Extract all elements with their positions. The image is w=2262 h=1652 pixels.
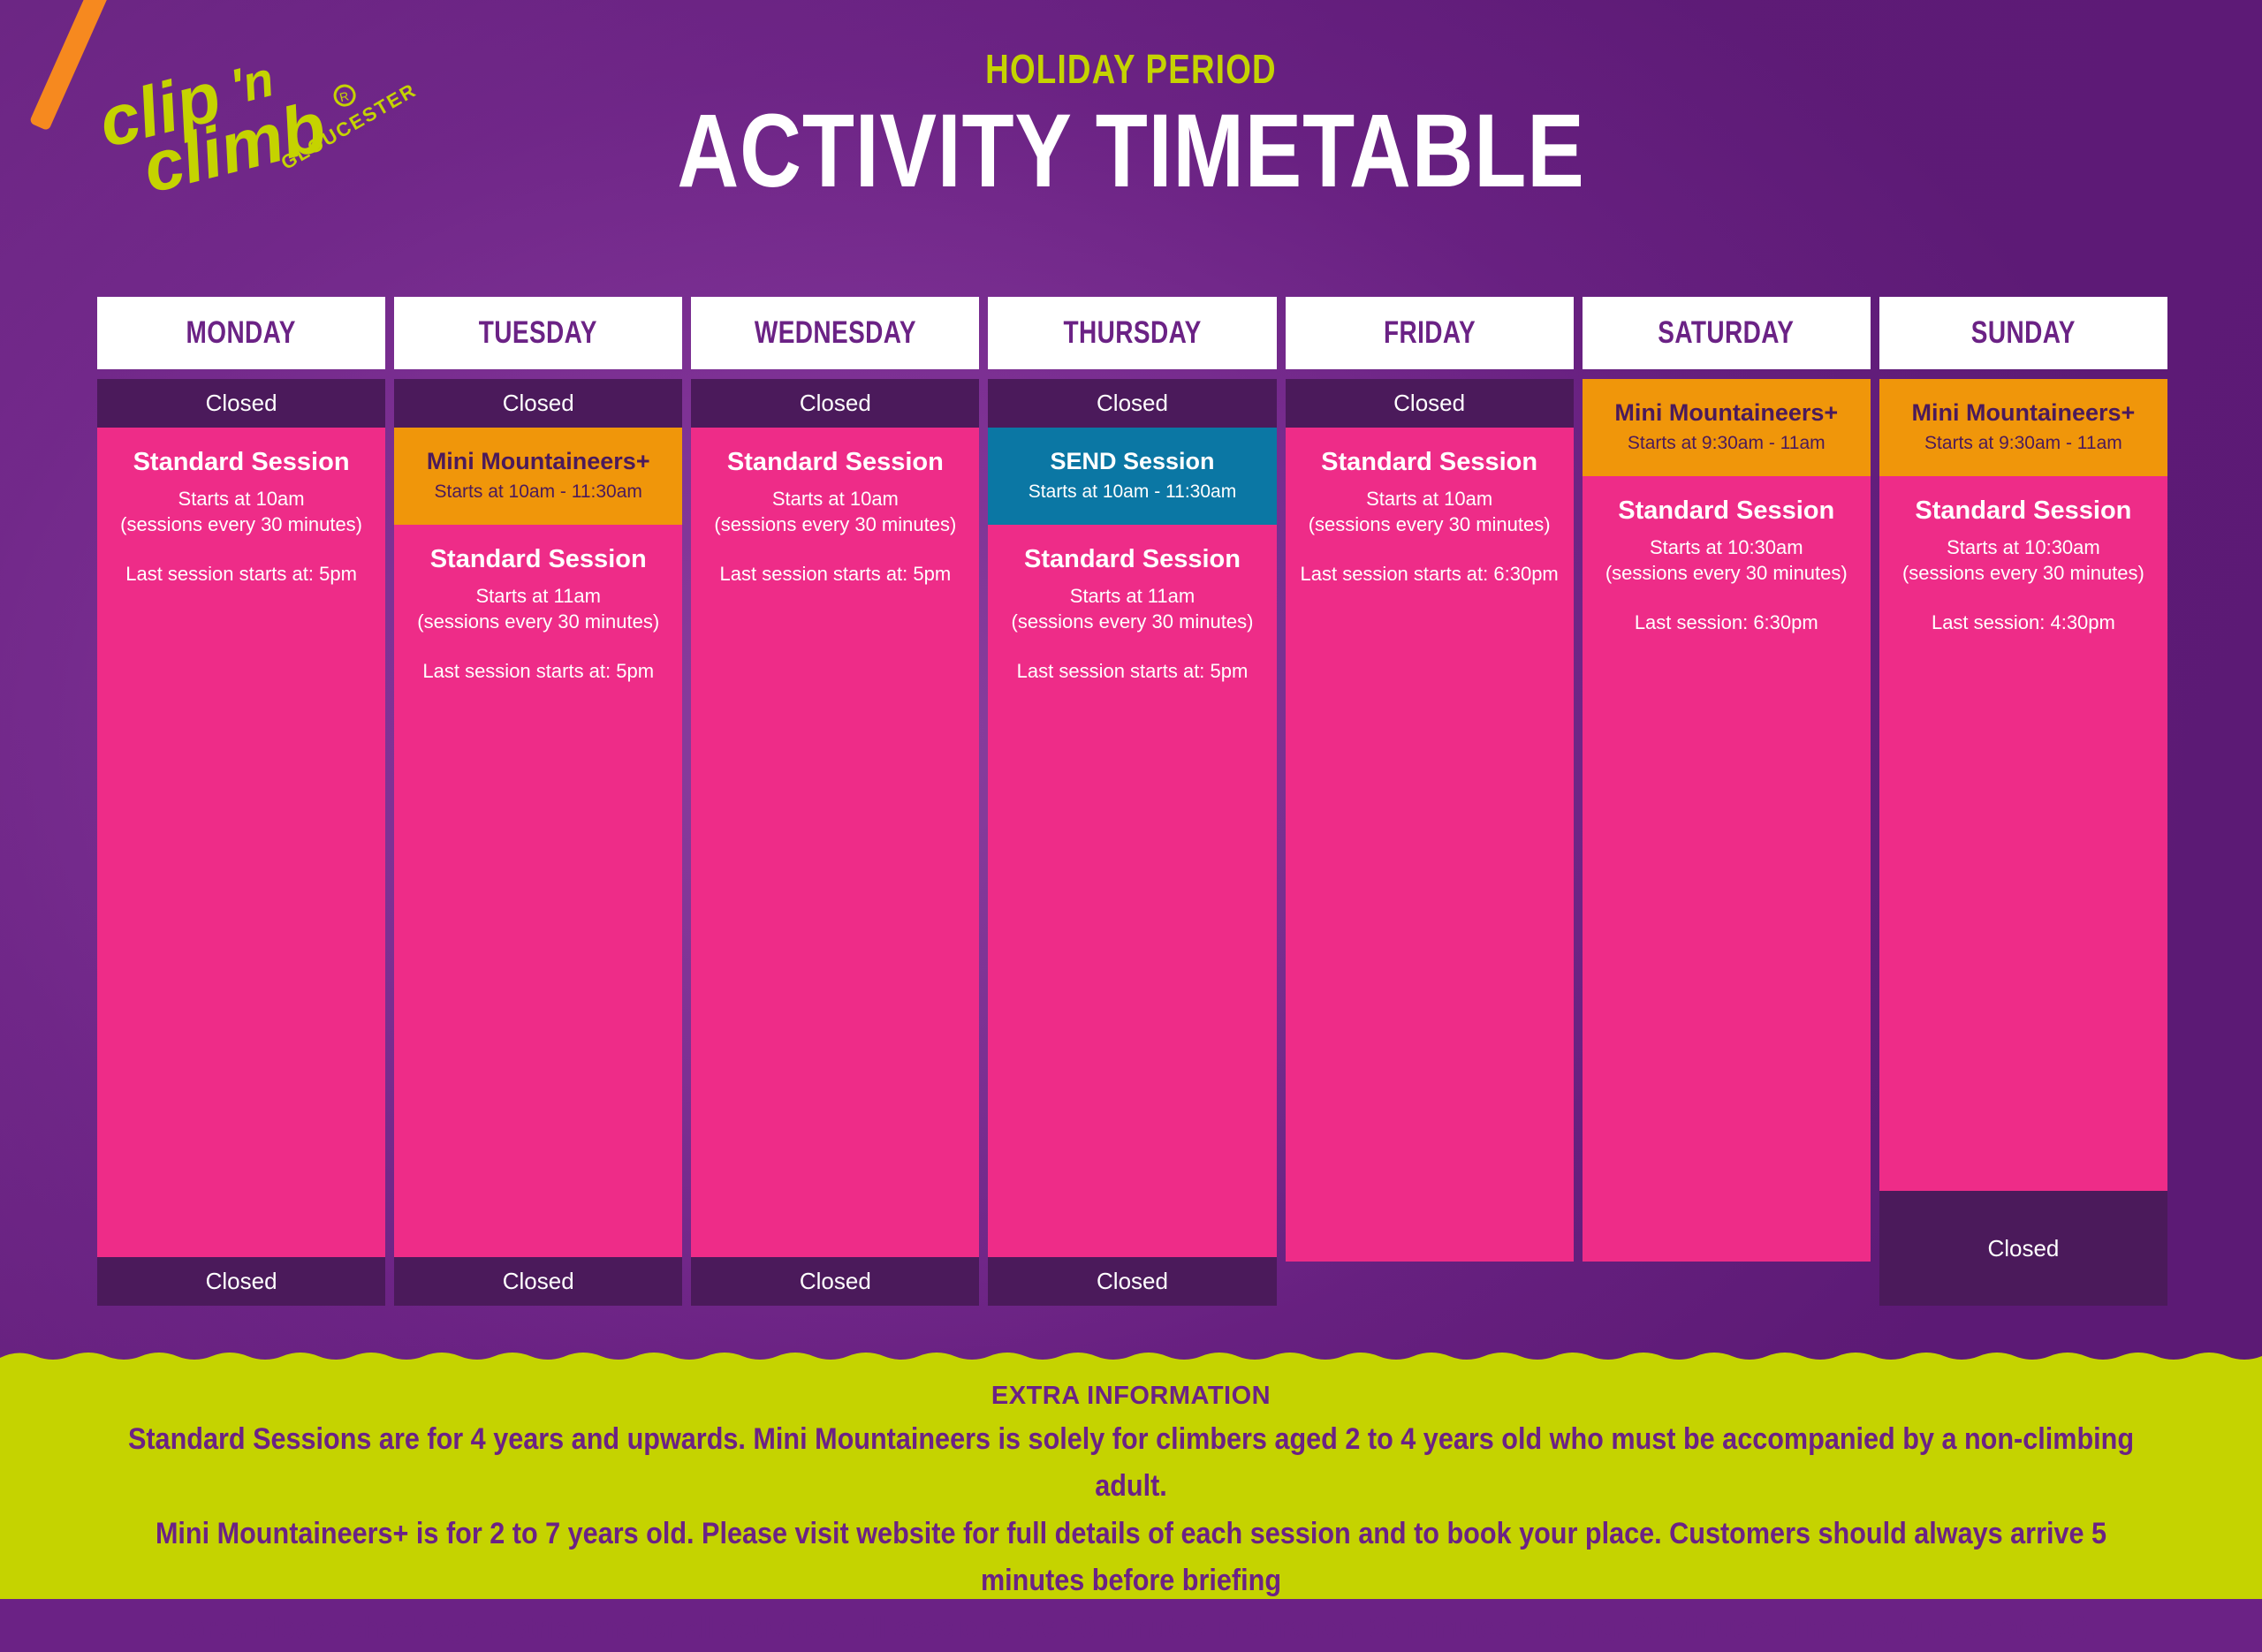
session-times: Starts at 9:30am - 11am <box>1590 431 1863 456</box>
session-content: Mini Mountaineers+Starts at 10am - 11:30… <box>394 428 682 525</box>
session-block: SEND SessionStarts at 10am - 11:30am <box>988 428 1276 525</box>
session-content: Mini Mountaineers+Starts at 9:30am - 11a… <box>1879 379 2167 476</box>
session-name: Standard Session <box>1590 496 1863 527</box>
session-block: Standard SessionStarts at 11am(sessions … <box>394 525 682 1257</box>
session-times: Starts at 9:30am - 11am <box>1886 431 2160 456</box>
session-block: Standard SessionStarts at 10:30am(sessio… <box>1879 476 2167 1191</box>
session-content: SEND SessionStarts at 10am - 11:30am <box>988 428 1276 525</box>
day-header-label: TUESDAY <box>479 315 597 351</box>
day-column: THURSDAYClosedSEND SessionStarts at 10am… <box>988 297 1276 1306</box>
session-times: Starts at 10am(sessions every 30 minutes… <box>104 486 378 538</box>
day-column: SUNDAYMini Mountaineers+Starts at 9:30am… <box>1879 297 2167 1306</box>
session-name: Standard Session <box>104 447 378 478</box>
session-name: Mini Mountaineers+ <box>1886 398 2160 427</box>
session-name: Standard Session <box>1886 496 2160 527</box>
timetable-grid: MONDAYClosedStandard SessionStarts at 10… <box>97 297 2167 1306</box>
session-last-start: Last session starts at: 6:30pm <box>1293 562 1567 587</box>
session-last-start: Last session: 4:30pm <box>1886 610 2160 636</box>
session-times: Starts at 10am - 11:30am <box>995 480 1269 504</box>
day-header-saturday: SATURDAY <box>1583 297 1871 369</box>
closed-block: Closed <box>1879 1191 2167 1306</box>
session-last-start: Last session starts at: 5pm <box>698 562 972 587</box>
session-block: Mini Mountaineers+Starts at 10am - 11:30… <box>394 428 682 525</box>
day-header-thursday: THURSDAY <box>988 297 1276 369</box>
closed-block: Closed <box>97 379 385 428</box>
session-block: Standard SessionStarts at 11am(sessions … <box>988 525 1276 1257</box>
session-times: Starts at 11am(sessions every 30 minutes… <box>401 583 675 635</box>
extra-info-line: Standard Sessions are for 4 years and up… <box>113 1416 2149 1511</box>
session-content: Standard SessionStarts at 10am(sessions … <box>97 428 385 607</box>
day-header-label: SUNDAY <box>1971 315 2076 351</box>
day-header-label: FRIDAY <box>1384 315 1476 351</box>
day-header-friday: FRIDAY <box>1286 297 1574 369</box>
closed-block: Closed <box>1286 379 1574 428</box>
session-block: Standard SessionStarts at 10am(sessions … <box>97 428 385 1257</box>
session-content: Standard SessionStarts at 10:30am(sessio… <box>1879 476 2167 655</box>
footer-panel: EXTRA INFORMATION Standard Sessions are … <box>0 1364 2262 1599</box>
session-times: Starts at 10:30am(sessions every 30 minu… <box>1886 534 2160 587</box>
closed-block: Closed <box>394 1257 682 1306</box>
closed-block: Closed <box>988 1257 1276 1306</box>
day-header-wednesday: WEDNESDAY <box>691 297 979 369</box>
day-header-label: MONDAY <box>186 315 296 351</box>
session-block: Mini Mountaineers+Starts at 9:30am - 11a… <box>1879 379 2167 476</box>
session-block: Standard SessionStarts at 10:30am(sessio… <box>1583 476 1871 1262</box>
day-header-tuesday: TUESDAY <box>394 297 682 369</box>
day-header-sunday: SUNDAY <box>1879 297 2167 369</box>
session-times: Starts at 11am(sessions every 30 minutes… <box>995 583 1269 635</box>
session-times: Starts at 10am(sessions every 30 minutes… <box>1293 486 1567 538</box>
extra-info-title: EXTRA INFORMATION <box>0 1382 2262 1411</box>
session-times: Starts at 10:30am(sessions every 30 minu… <box>1590 534 1863 587</box>
session-content: Standard SessionStarts at 11am(sessions … <box>988 525 1276 704</box>
header-eyebrow: HOLIDAY PERIOD <box>226 49 2036 89</box>
day-column: MONDAYClosedStandard SessionStarts at 10… <box>97 297 385 1306</box>
session-name: Mini Mountaineers+ <box>1590 398 1863 427</box>
page-header: HOLIDAY PERIOD ACTIVITY TIMETABLE <box>0 49 2262 204</box>
session-content: Standard SessionStarts at 10am(sessions … <box>1286 428 1574 607</box>
extra-info-line: starts. Please check age restrictions fo… <box>113 1605 2149 1652</box>
closed-block: Closed <box>394 379 682 428</box>
session-name: Standard Session <box>698 447 972 478</box>
closed-block: Closed <box>97 1257 385 1306</box>
session-name: Mini Mountaineers+ <box>401 447 675 475</box>
closed-block: Closed <box>988 379 1276 428</box>
extra-info-body: Standard Sessions are for 4 years and up… <box>0 1416 2262 1652</box>
session-last-start: Last session starts at: 5pm <box>995 659 1269 685</box>
session-block: Mini Mountaineers+Starts at 9:30am - 11a… <box>1583 379 1871 476</box>
day-header-label: THURSDAY <box>1063 315 1201 351</box>
closed-block: Closed <box>691 1257 979 1306</box>
session-times: Starts at 10am(sessions every 30 minutes… <box>698 486 972 538</box>
session-content: Mini Mountaineers+Starts at 9:30am - 11a… <box>1583 379 1871 476</box>
session-last-start: Last session starts at: 5pm <box>401 659 675 685</box>
day-column: TUESDAYClosedMini Mountaineers+Starts at… <box>394 297 682 1306</box>
session-name: SEND Session <box>995 447 1269 475</box>
session-last-start: Last session: 6:30pm <box>1590 610 1863 636</box>
day-column: FRIDAYClosedStandard SessionStarts at 10… <box>1286 297 1574 1262</box>
extra-info-line: Mini Mountaineers+ is for 2 to 7 years o… <box>113 1511 2149 1605</box>
day-header-label: SATURDAY <box>1659 315 1795 351</box>
day-header-label: WEDNESDAY <box>755 315 916 351</box>
session-content: Standard SessionStarts at 10:30am(sessio… <box>1583 476 1871 655</box>
closed-block: Closed <box>691 379 979 428</box>
session-block: Standard SessionStarts at 10am(sessions … <box>1286 428 1574 1262</box>
session-name: Standard Session <box>1293 447 1567 478</box>
session-content: Standard SessionStarts at 10am(sessions … <box>691 428 979 607</box>
session-last-start: Last session starts at: 5pm <box>104 562 378 587</box>
session-content: Standard SessionStarts at 11am(sessions … <box>394 525 682 704</box>
session-times: Starts at 10am - 11:30am <box>401 480 675 504</box>
day-column: SATURDAYMini Mountaineers+Starts at 9:30… <box>1583 297 1871 1262</box>
day-header-monday: MONDAY <box>97 297 385 369</box>
session-name: Standard Session <box>401 544 675 575</box>
day-column: WEDNESDAYClosedStandard SessionStarts at… <box>691 297 979 1306</box>
session-block: Standard SessionStarts at 10am(sessions … <box>691 428 979 1257</box>
session-name: Standard Session <box>995 544 1269 575</box>
page-title: ACTIVITY TIMETABLE <box>203 98 2058 204</box>
